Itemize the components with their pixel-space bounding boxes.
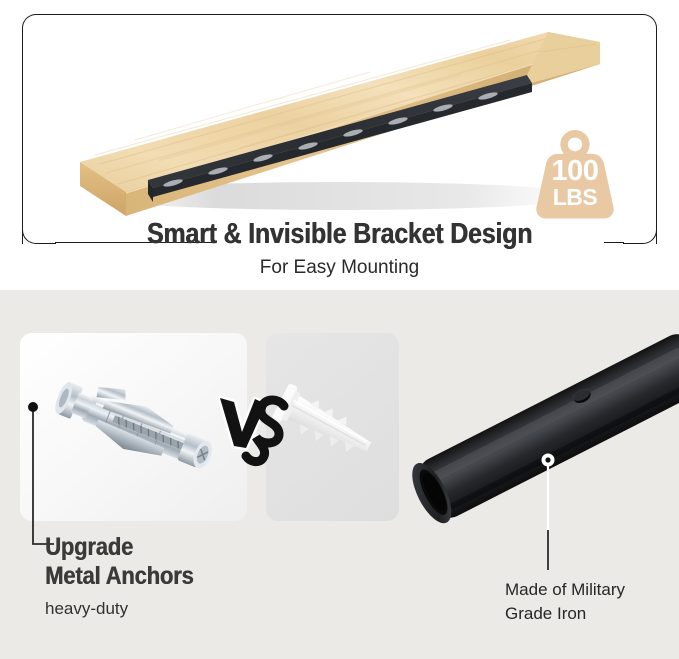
product-infographic: 100 LBS Smart & Invisible Bracket Design… [0,0,679,659]
callout-title-line-2: Metal Anchors [45,562,291,591]
iron-rod-callout-label: Made of Military Grade Iron [505,578,679,626]
headline-block: Smart & Invisible Bracket Design For Eas… [0,219,679,279]
callout-title-line-1: Made of Military [505,578,679,602]
callout-title-line-2: Grade Iron [505,602,679,626]
headline-title: Smart & Invisible Bracket Design [48,219,632,250]
callout-subtitle: heavy-duty [45,599,325,619]
top-panel: 100 LBS Smart & Invisible Bracket Design… [0,0,679,290]
weight-kettlebell-icon [527,128,623,220]
plastic-anchor-card [266,333,399,521]
headline-subtitle: For Easy Mounting [0,258,679,279]
weight-capacity-badge: 100 LBS [527,128,623,220]
metal-anchor-card [20,333,247,521]
callout-title-line-1: Upgrade [45,533,291,562]
metal-anchor-callout-label: Upgrade Metal Anchors heavy-duty [45,533,325,619]
